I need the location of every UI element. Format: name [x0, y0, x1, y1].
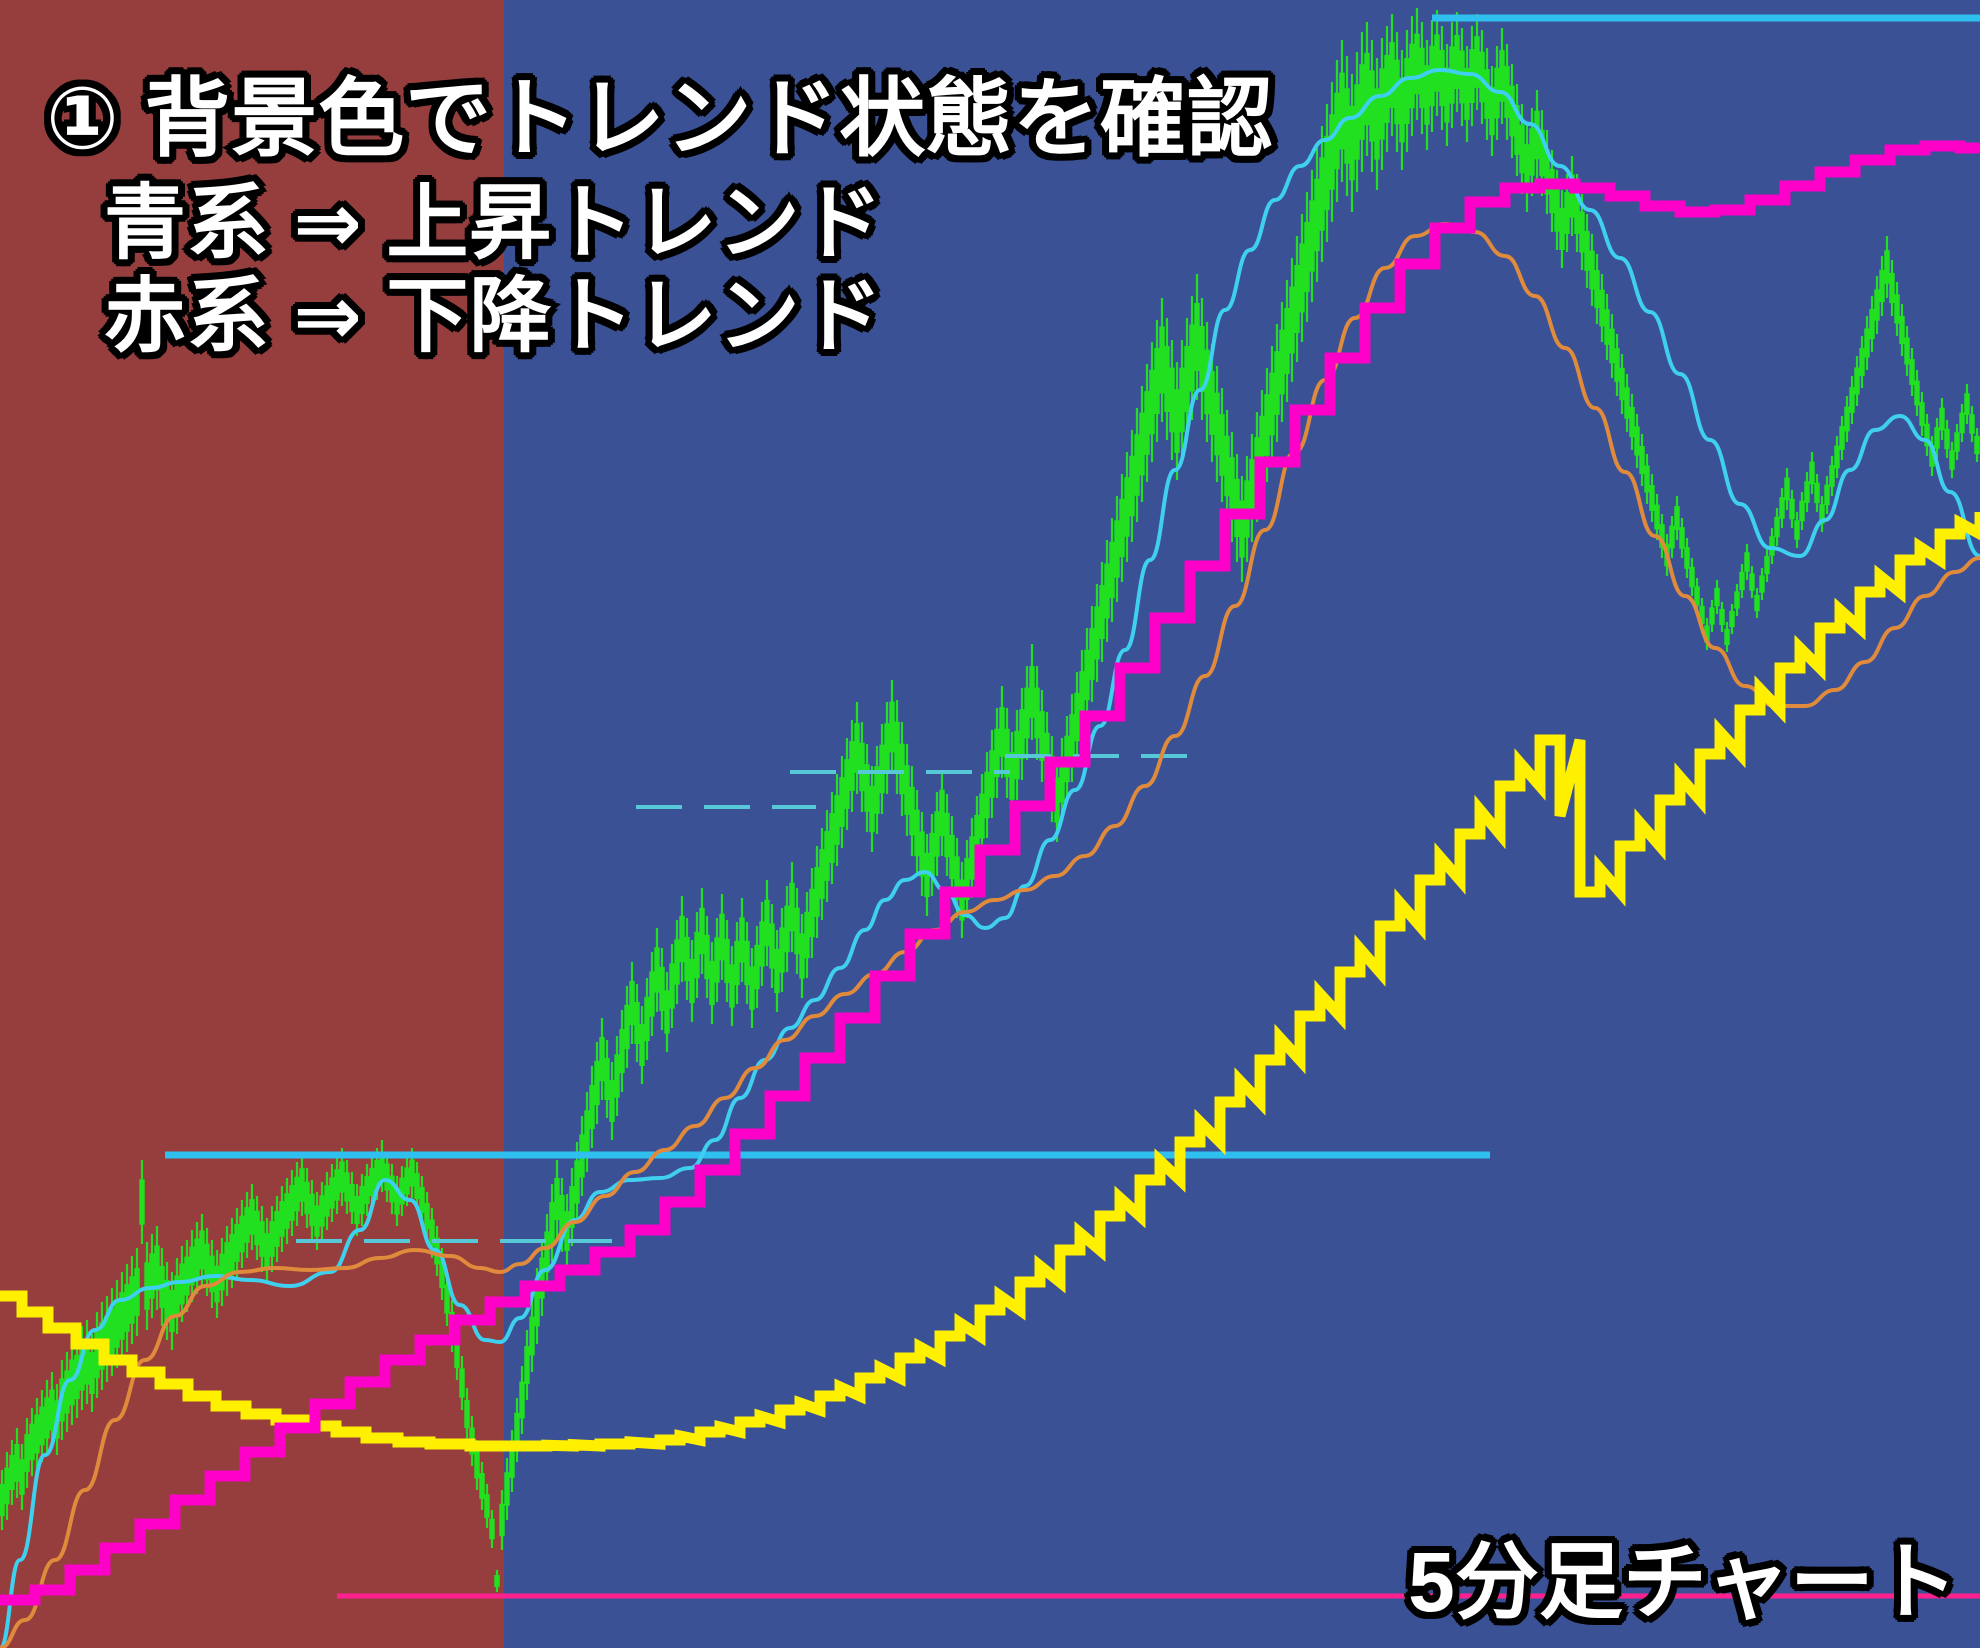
stepped-trend-lines — [0, 146, 1980, 1600]
price-chart[interactable] — [0, 0, 1980, 1648]
chart-screenshot: ① 背景色でトレンド状態を確認 青系 ⇒ 上昇トレンド 赤系 ⇒ 下降トレンド … — [0, 0, 1980, 1648]
horizontal-level-lines — [165, 18, 1980, 1596]
moving-average-series — [0, 70, 1980, 1648]
